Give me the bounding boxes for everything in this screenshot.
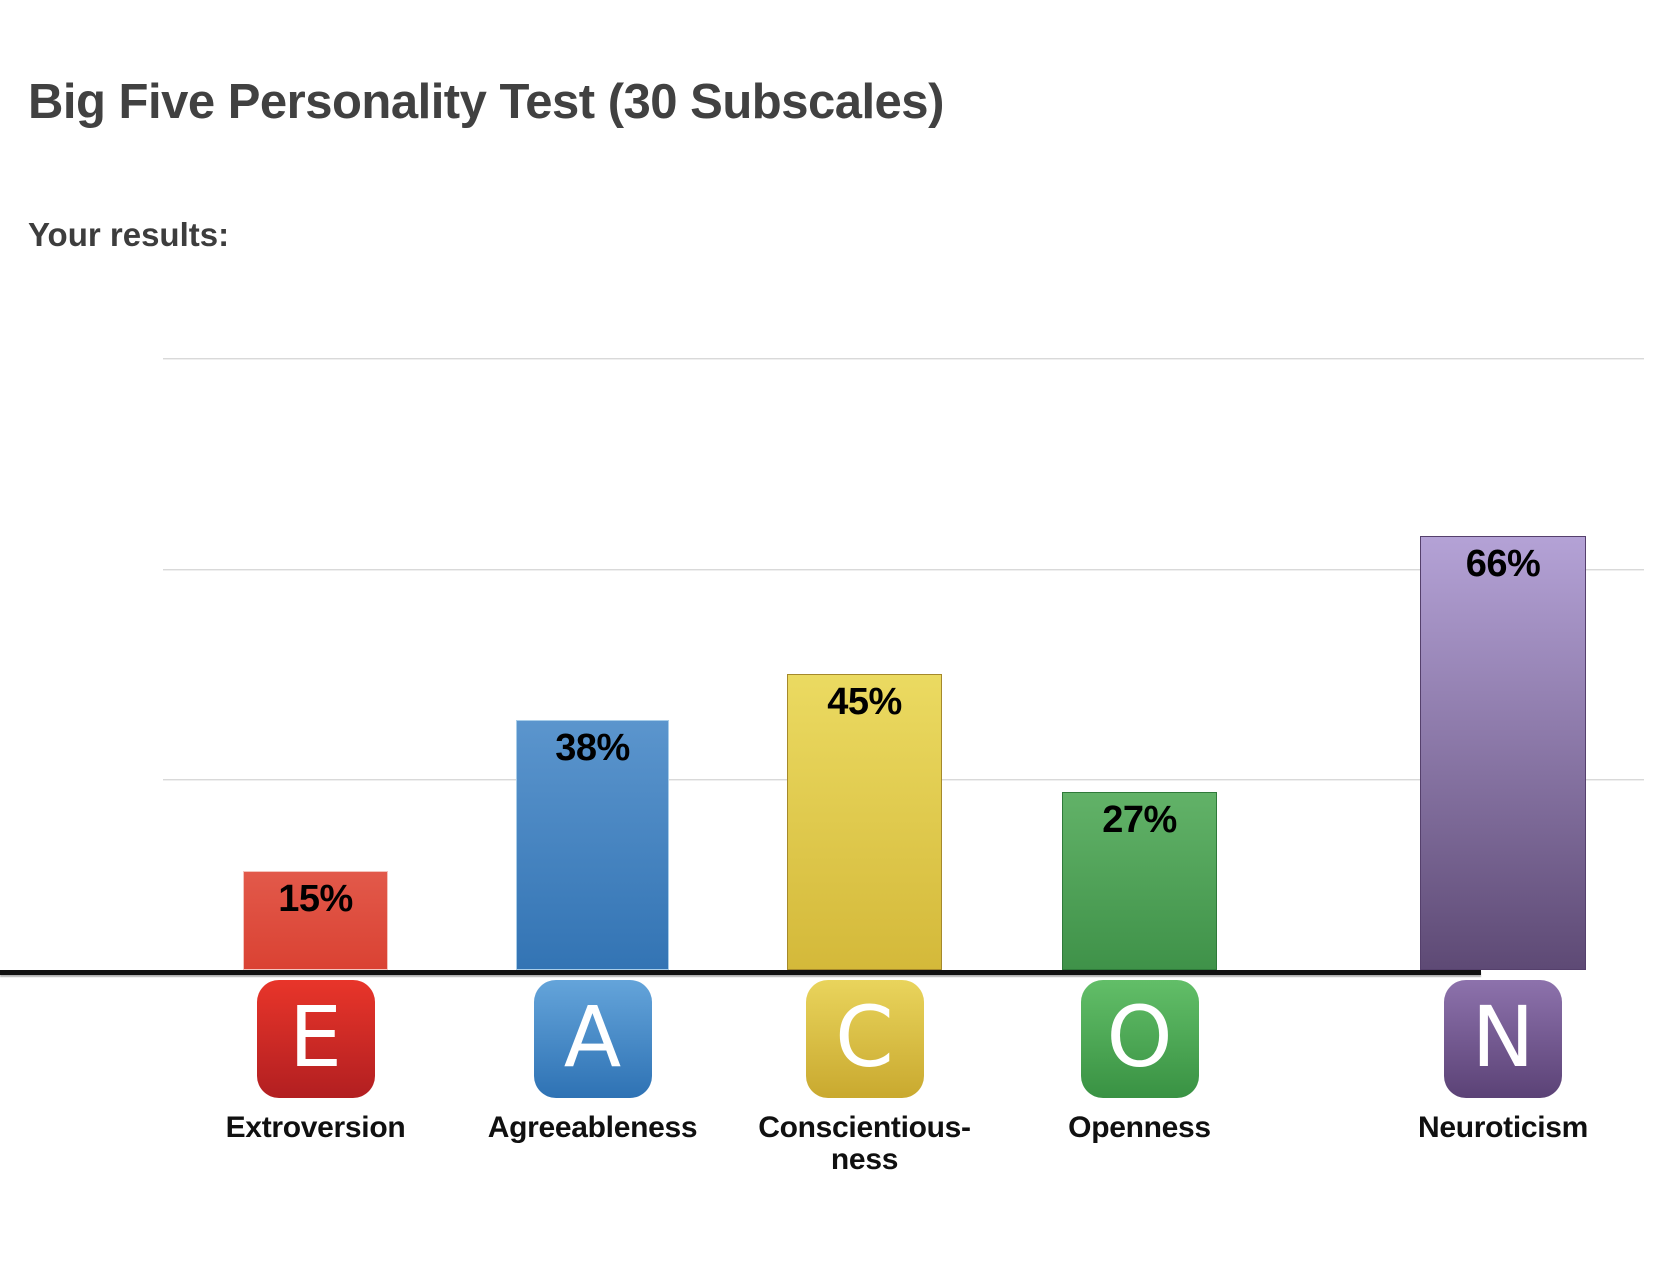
trait-letter-agreeableness: A [534, 980, 652, 1098]
e-trait-icon: E [257, 980, 375, 1098]
chart-baseline-axis [0, 970, 1481, 975]
bar-value-label-agreeableness: 38% [517, 729, 668, 769]
results-label: Your results: [28, 218, 229, 251]
bar-value-label-extroversion: 15% [244, 880, 387, 920]
bar-value-label-conscientiousness: 45% [788, 683, 941, 723]
bar-value-label-openness: 27% [1063, 801, 1216, 841]
trait-label-extroversion: Extroversion [196, 1112, 436, 1144]
chart-plot-area: 15%38%45%27%66% [163, 300, 1644, 972]
trait-label-openness: Openness [1020, 1112, 1260, 1144]
n-trait-icon: N [1444, 980, 1562, 1098]
chart-gridline [163, 358, 1644, 359]
trait-label-neuroticism: Neuroticism [1383, 1112, 1623, 1144]
page-title: Big Five Personality Test (30 Subscales) [28, 78, 944, 127]
legend-item-conscientiousness[interactable]: CConscientious-ness [745, 980, 985, 1175]
o-trait-icon: O [1081, 980, 1199, 1098]
bar-conscientiousness: 45% [787, 674, 942, 970]
bar-agreeableness: 38% [516, 720, 669, 970]
c-trait-icon: C [806, 980, 924, 1098]
personality-results-page: Big Five Personality Test (30 Subscales)… [0, 0, 1664, 1283]
trait-letter-openness: O [1081, 980, 1199, 1098]
trait-letter-extroversion: E [257, 980, 375, 1098]
bar-value-label-neuroticism: 66% [1421, 545, 1585, 585]
bar-neuroticism: 66% [1420, 536, 1586, 970]
bar-extroversion: 15% [243, 871, 388, 970]
legend-item-extroversion[interactable]: EExtroversion [196, 980, 436, 1144]
trait-label-agreeableness: Agreeableness [473, 1112, 713, 1144]
legend-item-agreeableness[interactable]: AAgreeableness [473, 980, 713, 1144]
a-trait-icon: A [534, 980, 652, 1098]
trait-letter-neuroticism: N [1444, 980, 1562, 1098]
legend-item-openness[interactable]: OOpenness [1020, 980, 1260, 1144]
trait-letter-conscientiousness: C [806, 980, 924, 1098]
bar-openness: 27% [1062, 792, 1217, 970]
legend-item-neuroticism[interactable]: NNeuroticism [1383, 980, 1623, 1144]
trait-label-conscientiousness: Conscientious-ness [745, 1112, 985, 1175]
chart-category-legend: EExtroversionAAgreeablenessCConscientiou… [0, 980, 1664, 1280]
